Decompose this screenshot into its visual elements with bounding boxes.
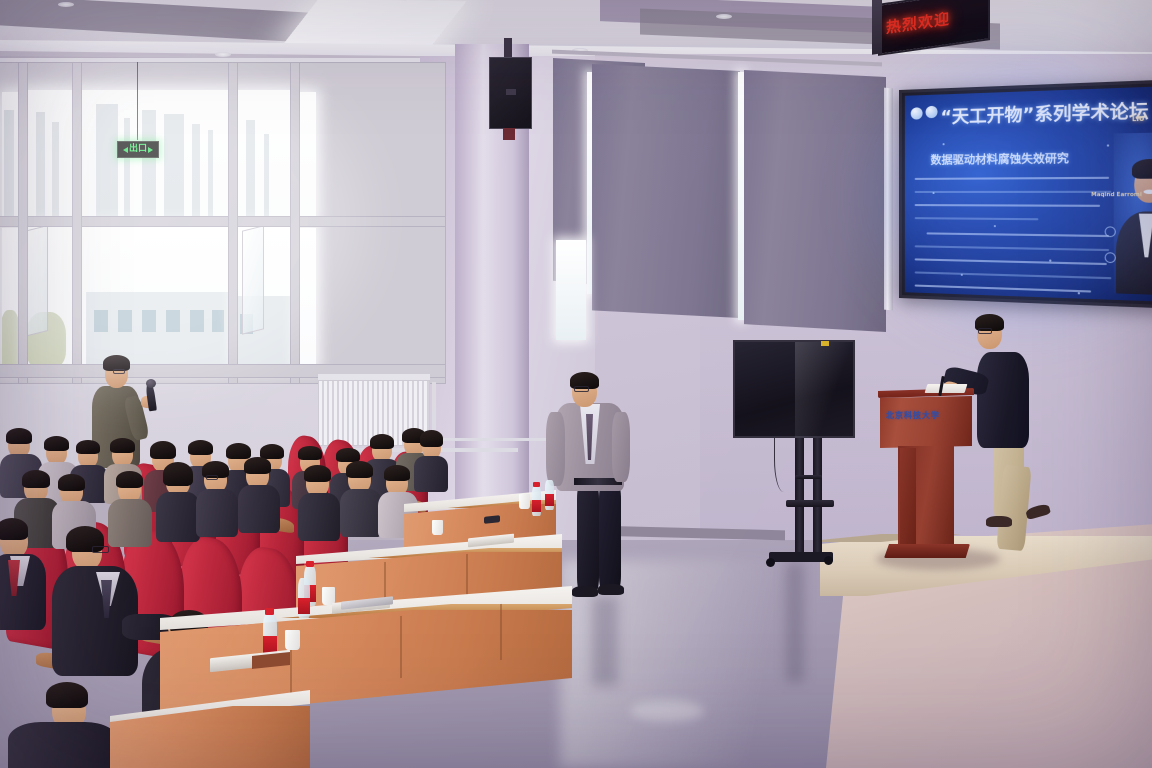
- audience-hair-b5: [150, 441, 176, 459]
- audience-hair-b8: [260, 444, 284, 459]
- slide-content: “天工开物”系列学术论坛 数据驱动材料腐蚀失效研究 LIU: [905, 86, 1152, 302]
- tv-caster-wheel-right: [824, 556, 833, 565]
- bottle-cap-4: [533, 482, 540, 487]
- bottle-cap-1: [306, 561, 314, 567]
- slide-body-line-4: [915, 217, 1039, 220]
- audience-hair-m1: [22, 470, 50, 488]
- audience-hair-b6: [188, 440, 213, 455]
- downlight-2: [215, 52, 231, 57]
- audience-torso-m4: [196, 489, 238, 537]
- tv-stand-shelf: [786, 500, 834, 507]
- downlight-5: [716, 14, 732, 19]
- audience-hair-m3: [163, 462, 193, 486]
- moderator-shoe-right: [598, 584, 624, 595]
- window-mullion-v4: [290, 62, 300, 384]
- wall-conduit: [438, 438, 554, 441]
- speaker-bracket: [503, 128, 515, 140]
- exit-arrow-left-icon: [123, 147, 128, 153]
- audience-hair-f4: [46, 682, 88, 708]
- presenter-torso: [977, 352, 1029, 448]
- blind-light-gap-2: [738, 72, 744, 320]
- audience-hair-b7: [226, 443, 251, 459]
- presenter-glasses: [978, 328, 992, 334]
- tv-stand-post-2: [813, 438, 822, 556]
- paper-cup-4[interactable]: [432, 520, 443, 535]
- moderator-arm-left: [546, 412, 565, 486]
- slide-body-line-5: [927, 232, 1110, 237]
- podium-paper: [925, 384, 968, 393]
- roller-blind-2: [592, 64, 740, 318]
- emergency-exit-sign: 出口: [117, 141, 159, 158]
- audience-hair-b11: [370, 434, 394, 449]
- bottle-label-3: [298, 598, 310, 614]
- slide-decor-circle-1: [1105, 226, 1116, 237]
- paper-cup-3[interactable]: [519, 494, 530, 509]
- audience-torso-b13: [414, 456, 448, 492]
- audience-hair-m2: [58, 474, 85, 491]
- tv-monitor[interactable]: [733, 340, 855, 438]
- audience-hair-b13: [420, 430, 443, 447]
- podium-front-panel: [880, 396, 972, 448]
- audience-hair-b2: [44, 436, 69, 451]
- window-mullion-v2: [72, 62, 82, 384]
- screen-left-bezel: [884, 88, 893, 311]
- downlight-1: [58, 2, 74, 7]
- presenter-shoe-back: [986, 516, 1012, 527]
- audience-torso-f4: [8, 722, 118, 768]
- lecture-hall-photo: 出口 热烈欢迎: [0, 0, 1152, 768]
- audience-hair-b10: [336, 448, 360, 462]
- window-pane-10: [298, 228, 316, 368]
- audience-torso-m5: [238, 485, 280, 533]
- tv-yellow-sticker: [821, 341, 829, 346]
- slide-decor-circle-2: [1105, 252, 1116, 263]
- audience-hair-b3: [76, 440, 100, 454]
- audience-hair-m9: [116, 471, 143, 488]
- podium-inset-shadow: [900, 448, 916, 544]
- audience-hair-b4: [110, 438, 135, 453]
- moderator-leg-left: [577, 484, 599, 592]
- podium-base: [884, 544, 970, 558]
- slide-body-line-8: [915, 271, 1112, 279]
- tv-power-cable: [774, 438, 790, 492]
- audience-glasses-f2: [92, 546, 109, 553]
- led-banner-text: 热烈欢迎: [886, 8, 950, 38]
- moderator-glasses: [574, 386, 589, 392]
- slide-logo-2: [926, 106, 938, 119]
- slide-body-line-6: [915, 245, 1109, 251]
- desk-mid-seam-2: [466, 554, 468, 598]
- floor-tv-reflection: [786, 562, 804, 682]
- audience-hair-m8: [384, 465, 410, 481]
- slide-body-line-1: [915, 177, 1109, 180]
- microphone-head-icon: [146, 379, 156, 388]
- tv-stand-crossbar: [795, 475, 822, 479]
- window-pane-8: [80, 226, 230, 368]
- desk-front-seam-3: [500, 604, 502, 660]
- speaker-portrait-photo: [1114, 132, 1152, 296]
- roller-blind-3: [744, 70, 886, 332]
- audience-hair-m7: [346, 461, 373, 478]
- moderator-shoe-left: [572, 586, 598, 597]
- moderator-arm-right: [612, 412, 630, 482]
- desk-front-seam-2: [400, 616, 402, 678]
- floor-person-reflection: [592, 596, 618, 686]
- audience-hair-m6: [304, 465, 331, 482]
- slide-series-title: “天工开物”系列学术论坛: [941, 96, 1149, 128]
- bottle-cap-2: [265, 608, 274, 615]
- audience-hair-b9: [298, 446, 322, 460]
- audience-hair-b1: [6, 428, 32, 444]
- floor-highlight: [630, 700, 704, 722]
- paper-cup-2[interactable]: [285, 630, 300, 650]
- audience-hair-f1: [0, 518, 28, 540]
- slide-lecture-title: 数据驱动材料腐蚀失效研究: [931, 149, 1069, 167]
- exit-arrow-right-icon: [148, 147, 153, 153]
- bottle-label-5: [545, 494, 554, 506]
- audience-torso-m6: [298, 493, 340, 541]
- slide-body-line-3: [915, 204, 1100, 207]
- moderator-leg-right: [599, 484, 621, 590]
- slide-body-line-7: [915, 258, 1107, 265]
- podium-university-logo: 北京科技大学: [886, 410, 940, 421]
- audience-torso-m7: [340, 489, 382, 537]
- audience-torso-m3: [156, 492, 200, 542]
- exit-sign-label: 出口: [129, 145, 147, 154]
- banner-bezel: [872, 0, 882, 55]
- tv-caster-wheel-left: [766, 558, 775, 567]
- window-vent-right: [242, 225, 264, 334]
- slide-body-line-2: [915, 191, 1112, 193]
- window-pane-2: [26, 90, 74, 220]
- portrait-name-latin: LIU: [1132, 115, 1145, 123]
- bottle-label-4: [532, 500, 541, 512]
- slide-body-line-9: [915, 285, 1091, 293]
- slide-logo-1: [911, 107, 923, 119]
- window-mullion-v1: [18, 62, 28, 384]
- blind-bottom-light: [556, 240, 586, 340]
- tv-stand-post: [795, 438, 804, 556]
- ceiling-speaker: [489, 57, 532, 129]
- window-mullion-h: [0, 216, 446, 227]
- window-pane-5: [298, 92, 316, 220]
- audience-glasses-m4: [206, 475, 218, 480]
- portrait-tagline: Maqind Earromi: [1091, 192, 1142, 199]
- blind-light-gap-1: [587, 72, 592, 294]
- audience-torso-m9: [108, 499, 152, 547]
- projection-screen: “天工开物”系列学术论坛 数据驱动材料腐蚀失效研究 LIU: [899, 79, 1152, 308]
- questioner-glasses: [113, 369, 125, 374]
- exit-sign-wire: [137, 62, 138, 140]
- window-pane-4: [236, 90, 292, 220]
- window-mullion-v3: [228, 62, 238, 384]
- audience-hair-m5: [244, 457, 271, 474]
